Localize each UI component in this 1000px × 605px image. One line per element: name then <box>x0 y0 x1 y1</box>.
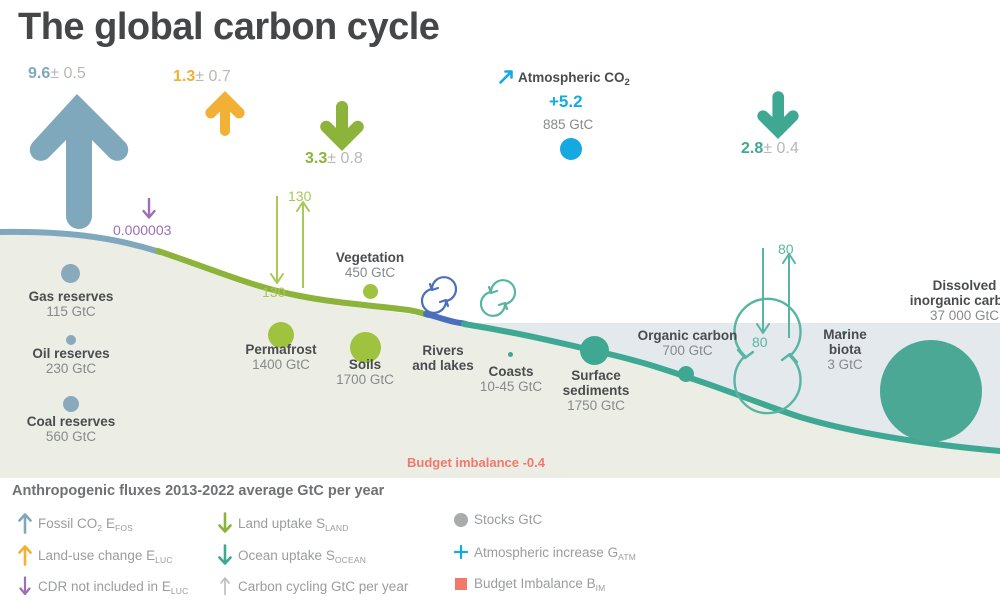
arrow-up-blue-icon <box>12 512 38 534</box>
fossil-co2-flux-value: 9.6± 0.5 <box>28 65 86 83</box>
atmospheric-increase-arrow-icon <box>498 69 514 85</box>
gas-reserves-label: Gas reserves 115 GtC <box>6 289 136 319</box>
legend-label-ocean-uptake: Ocean uptake SOCEAN <box>238 548 366 563</box>
organic-carbon-label: Organic carbon 700 GtC <box>625 328 750 358</box>
legend-item-stocks[interactable]: Stocks GtC <box>448 512 542 527</box>
cdr-flux-value: 0.000003 <box>113 222 171 238</box>
ocean-uptake-flux-value: 2.8± 0.4 <box>741 140 799 158</box>
gas-reserves-dot <box>61 264 80 283</box>
atmospheric-stock-dot <box>560 138 582 160</box>
legend-item-land-use-change[interactable]: Land-use change ELUC <box>12 544 173 566</box>
legend-label-land-uptake: Land uptake SLAND <box>238 516 349 531</box>
ocean-cycling-up-value: 80 <box>778 241 794 257</box>
land-cycling-up-value: 130 <box>288 188 311 204</box>
legend-item-cdr[interactable]: CDR not included in ELUC <box>12 576 188 596</box>
oil-reserves-dot <box>66 335 76 345</box>
budget-imbalance-text: Budget imbalance -0.4 <box>407 455 545 470</box>
marine-biota-label: Marine biota 3 GtC <box>802 327 888 372</box>
legend-panel: Anthropogenic fluxes 2013-2022 average G… <box>0 478 1000 605</box>
organic-carbon-dot <box>678 366 694 382</box>
coal-reserves-dot <box>63 396 79 412</box>
atmospheric-stock-value: 885 GtC <box>543 117 593 132</box>
arrow-down-purple-icon <box>12 576 38 596</box>
vegetation-dot <box>363 284 378 299</box>
legend-label-carbon-cycling: Carbon cycling GtC per year <box>238 579 408 594</box>
infographic-canvas: 9.6± 0.5 1.3± 0.7 3.3± 0.8 2.8± 0.4 0.00… <box>0 0 1000 605</box>
land-cycling-arrows <box>271 196 309 288</box>
coasts-dot <box>508 352 513 357</box>
land-use-change-flux-value: 1.3± 0.7 <box>173 68 231 86</box>
ocean-uptake-arrow-down-icon <box>756 88 800 142</box>
legend-label-cdr: CDR not included in ELUC <box>38 579 188 594</box>
ocean-cycling-down-value: 80 <box>752 334 768 350</box>
legend-item-carbon-cycling[interactable]: Carbon cycling GtC per year <box>212 576 408 596</box>
dissolved-inorganic-carbon-dot <box>880 340 982 442</box>
legend-title: Anthropogenic fluxes 2013-2022 average G… <box>12 483 384 499</box>
atmospheric-increase-value: +5.2 <box>549 92 583 112</box>
coal-reserves-label: Coal reserves 560 GtC <box>6 414 136 444</box>
legend-item-fossil-co2[interactable]: Fossil CO2 EFOS <box>12 512 133 534</box>
legend-item-atmospheric-increase[interactable]: Atmospheric increase GATM <box>448 544 636 560</box>
square-red-icon <box>448 578 474 590</box>
coasts-cycling-icon <box>481 280 515 316</box>
land-uptake-arrow-down-icon <box>318 98 366 154</box>
plus-cyan-icon <box>448 544 474 560</box>
arrow-up-thin-icon <box>212 576 238 596</box>
legend-label-fossil-co2: Fossil CO2 EFOS <box>38 516 133 531</box>
rivers-cycling-icon <box>422 277 456 313</box>
land-uptake-flux-value: 3.3± 0.8 <box>305 150 363 168</box>
arrow-down-green-icon <box>212 512 238 534</box>
vegetation-label: Vegetation 450 GtC <box>305 250 435 280</box>
legend-item-budget-imbalance[interactable]: Budget Imbalance BIM <box>448 576 605 591</box>
arrow-up-yellow-icon <box>12 544 38 566</box>
arrow-down-teal-icon <box>212 544 238 566</box>
legend-item-land-uptake[interactable]: Land uptake SLAND <box>212 512 349 534</box>
legend-label-budget-imbalance: Budget Imbalance BIM <box>474 576 605 591</box>
atmospheric-co2-label: Atmospheric CO2 <box>518 70 630 85</box>
oil-reserves-label: Oil reserves 230 GtC <box>6 346 136 376</box>
land-cycling-down-value: 130 <box>262 284 285 300</box>
surface-sediments-dot <box>580 336 609 365</box>
land-use-change-arrow-up-icon <box>204 88 246 138</box>
circle-gray-icon <box>448 513 474 527</box>
legend-item-ocean-uptake[interactable]: Ocean uptake SOCEAN <box>212 544 366 566</box>
dissolved-inorganic-carbon-label: Dissolved inorganic carbon 37 000 GtC <box>872 278 1000 323</box>
legend-label-atmospheric-increase: Atmospheric increase GATM <box>474 545 636 560</box>
cdr-arrow-down-icon <box>140 198 158 220</box>
fossil-co2-arrow-up-icon <box>22 88 132 233</box>
legend-label-stocks: Stocks GtC <box>474 512 542 527</box>
surface-sediments-label: Surface sediments 1750 GtC <box>546 368 646 413</box>
legend-label-land-use-change: Land-use change ELUC <box>38 548 173 563</box>
page-title: The global carbon cycle <box>18 6 439 49</box>
